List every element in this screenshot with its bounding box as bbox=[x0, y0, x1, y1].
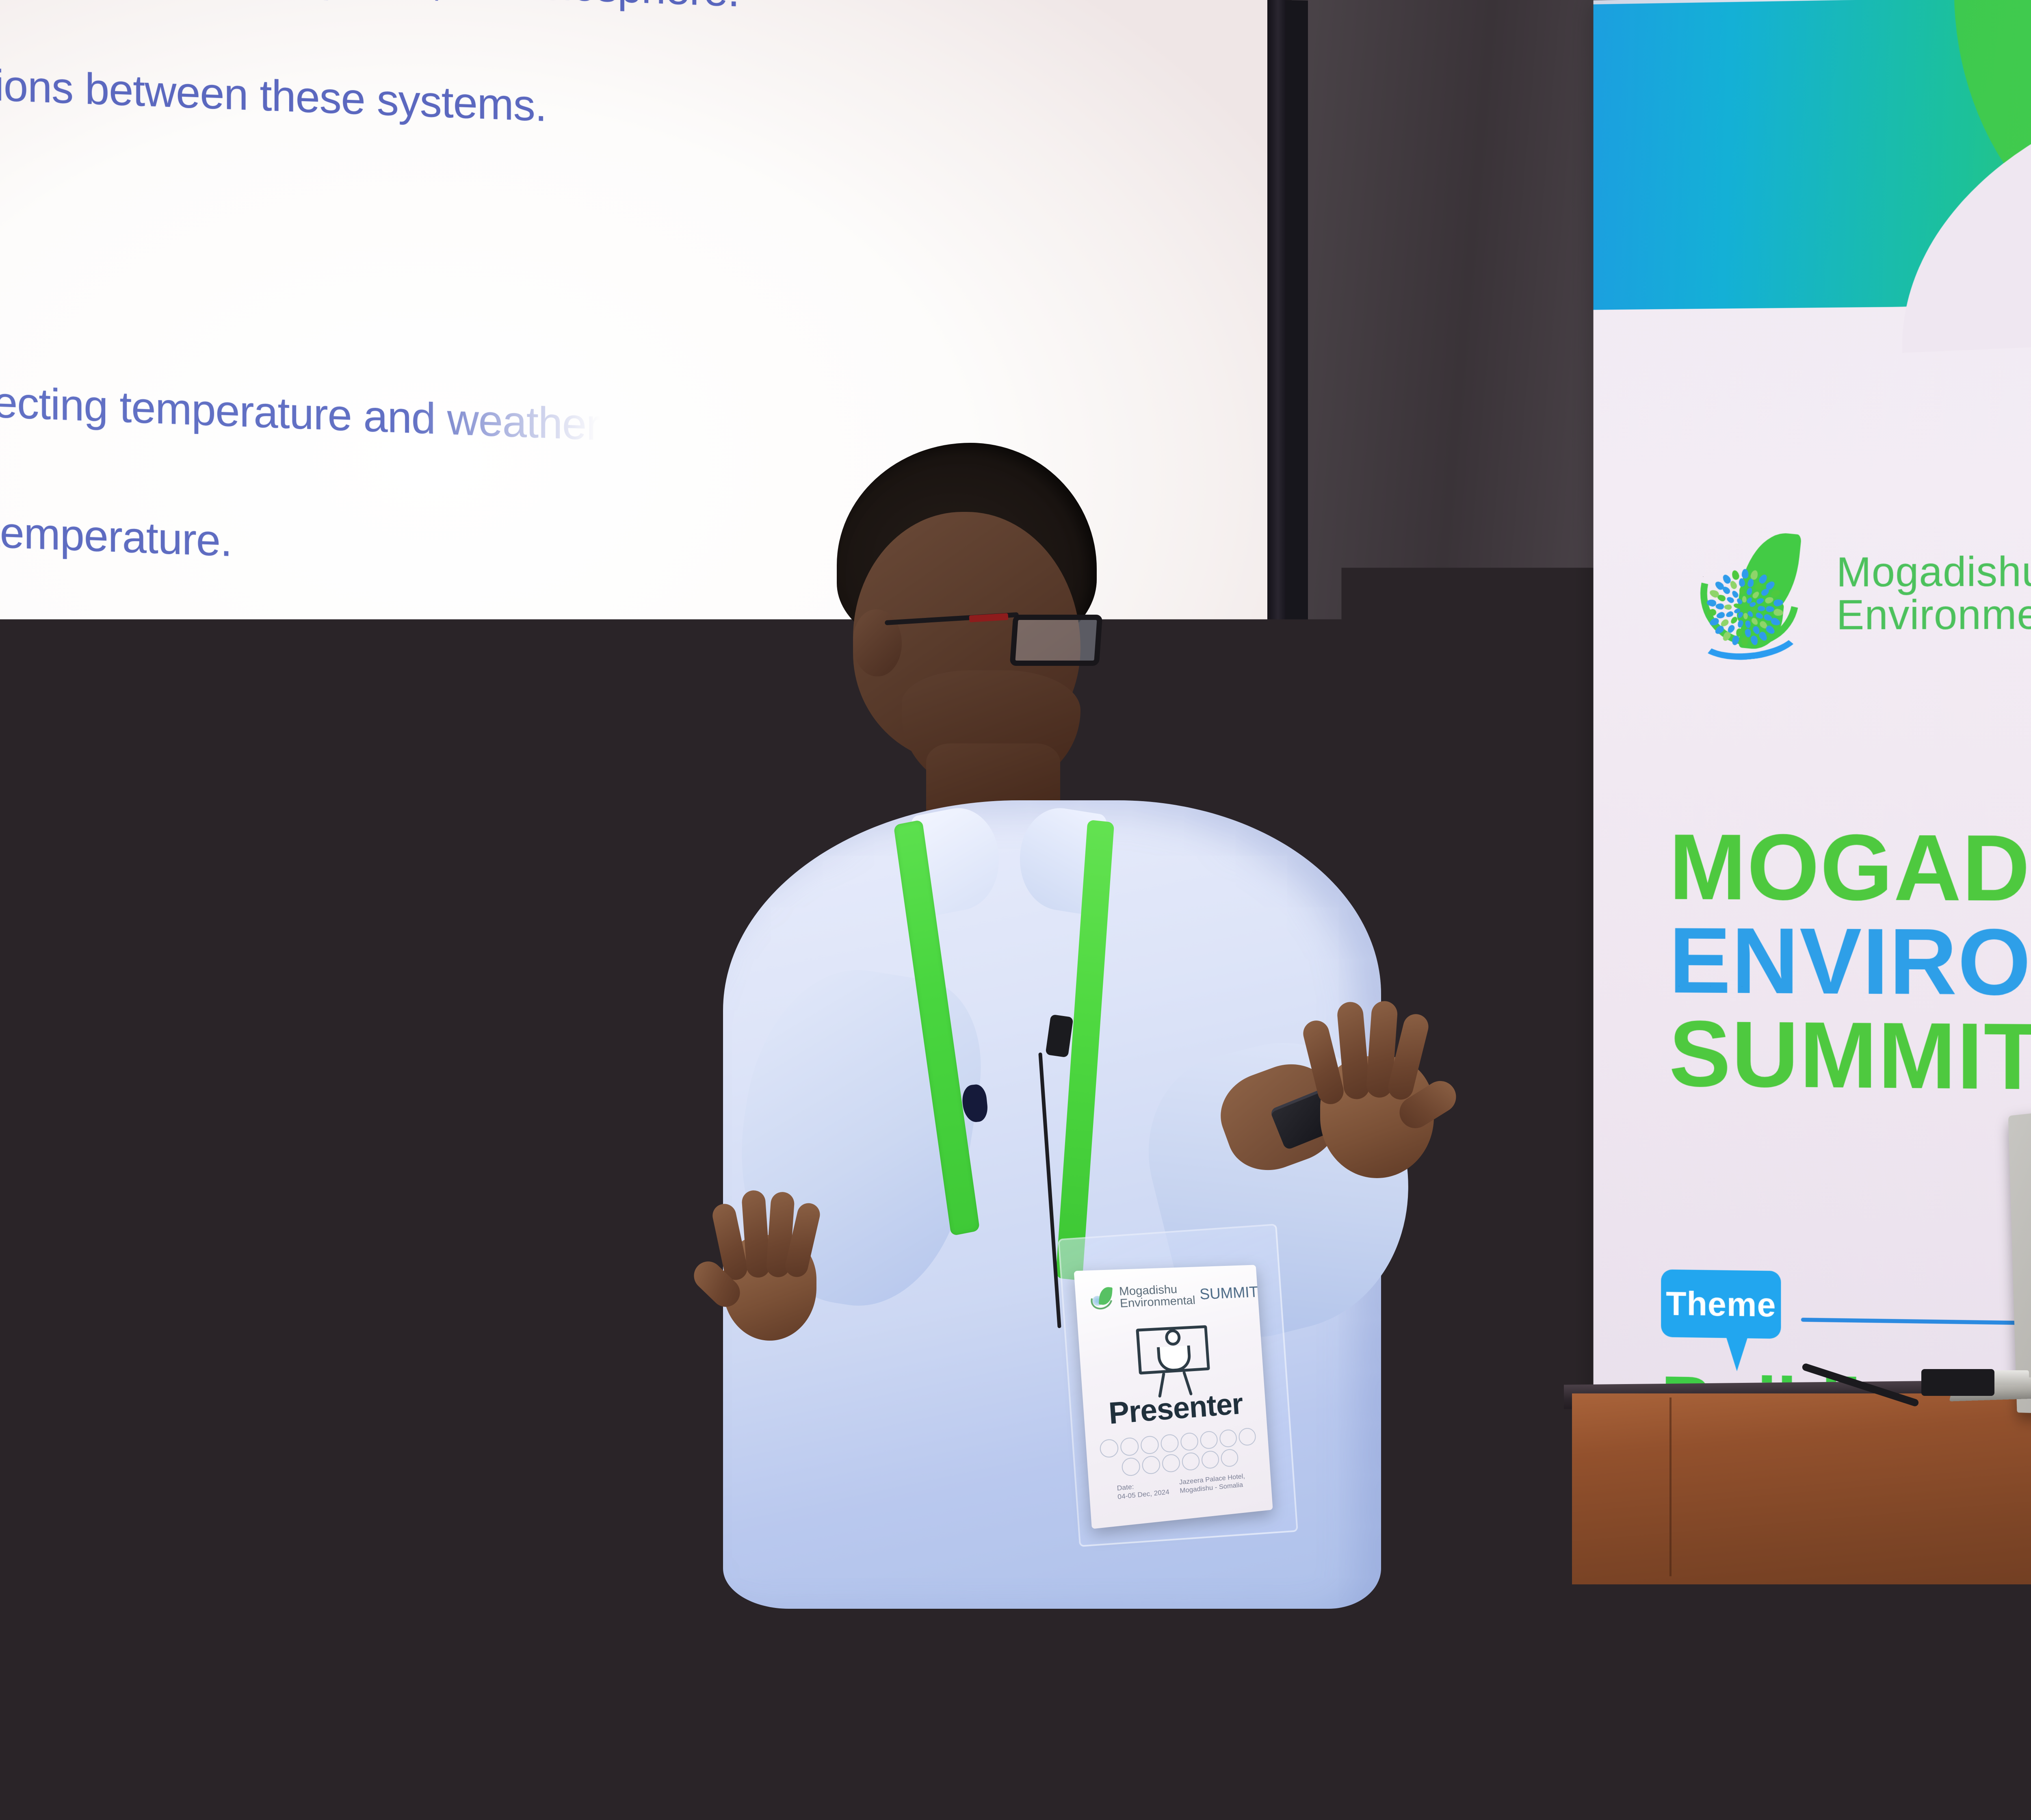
moecc-seal-icon: ★ MOECC bbox=[1104, 1662, 1178, 1735]
presenter-left-hand bbox=[707, 1174, 853, 1349]
badge-partner-logo-strip bbox=[1098, 1427, 1258, 1478]
slide-line-2: ractions between these systems. bbox=[0, 57, 547, 131]
slide-line-4: h's temperature. bbox=[0, 504, 232, 566]
banner-title-line-1: MOGADISHU bbox=[1669, 821, 2031, 918]
presenter-eyeglasses bbox=[890, 607, 1101, 668]
oxfam-label: OXFAM bbox=[1429, 1723, 1490, 1742]
oxfam-mark-icon bbox=[1433, 1654, 1485, 1718]
presenter-easel-icon bbox=[1132, 1322, 1214, 1391]
aacj-caption: African Activists for Climate Justice bbox=[1657, 1725, 1739, 1731]
aacj-fist-icon: African Activists for Climate Justice bbox=[1664, 1662, 1733, 1735]
footer-theme-label: Theme bbox=[618, 1582, 686, 1606]
footer-theme-block: Theme Building Sustainable Future: Clima… bbox=[608, 1655, 1087, 1741]
pacja-abbr: PACJA bbox=[1738, 1681, 1818, 1708]
a4e-letter-a: A bbox=[34, 1668, 78, 1729]
slide-line-1: re, cryosphere, lithosphere, and biosphe… bbox=[0, 0, 739, 17]
simad-crest-icon-footer: SIMAD UNIVERSITY bbox=[1264, 1656, 1336, 1740]
partner-logo-hex bbox=[1970, 1617, 2031, 1779]
partner-a4e-letter-4: 4 bbox=[1208, 1672, 1236, 1724]
laptop-usb-port bbox=[1992, 1370, 2029, 1385]
banner-title-line-3: SUMMIT bbox=[1669, 1007, 2031, 1104]
presenter-right-hand bbox=[1292, 987, 1466, 1190]
banner-title-line-2: ENVIRONMENTAL bbox=[1669, 914, 2031, 1013]
footer-theme-line-1: Building Sustainable Future: bbox=[608, 1655, 1087, 1696]
footer-partner-logos: ★ MOECC A 4 E bbox=[1108, 1617, 2031, 1779]
footer-summit-lockup: Mogadishu SUMMIT Environmental bbox=[157, 1655, 579, 1742]
slide-line-3: , affecting temperature and weather bbox=[0, 374, 600, 450]
a4e-letter-4: 4 bbox=[72, 1668, 106, 1729]
badge-logo-line-2: Environmental bbox=[1119, 1295, 1196, 1310]
partner-footer-banner: A 4 E Mogadishu SUMMIT bbox=[0, 1576, 2031, 1820]
footer-leaf-logo-icon bbox=[157, 1655, 250, 1742]
footer-summit-word-1: Mogadishu bbox=[261, 1673, 407, 1702]
footer-theme-line-2: Climate Justice for Somalia bbox=[608, 1701, 1087, 1741]
banner-brand-text: Mogadishu SUMMIT Environmental bbox=[1836, 535, 2031, 636]
badge-leaf-logo-icon bbox=[1088, 1286, 1117, 1311]
slide-line-7: ffected by the climate. bbox=[0, 892, 340, 958]
pacja-sub-2: JUSTICE ALLIANCE bbox=[1745, 1718, 1811, 1726]
slide-line-6: ost impact sea levels and climate bbox=[0, 764, 553, 838]
footer-summit-word-3: SUMMIT bbox=[414, 1663, 579, 1704]
swirl-logo-icon bbox=[1347, 1662, 1412, 1735]
partner-logo-a4e: A 4 E bbox=[1174, 1617, 1267, 1779]
conference-room-scene: re, cryosphere, lithosphere, and biosphe… bbox=[0, 0, 2031, 1820]
moecc-abbr: MOECC bbox=[1106, 1726, 1176, 1732]
presenter-person: Mogadishu Environmental SUMMIT Presenter bbox=[642, 443, 1718, 1580]
salaam-bank-icon: SALAAM bbox=[1829, 1661, 1886, 1735]
badge-summit-logo: Mogadishu Environmental SUMMIT bbox=[1088, 1281, 1247, 1311]
a4e-letter-e: E bbox=[100, 1668, 141, 1729]
badge-logo-summit: SUMMIT bbox=[1199, 1284, 1259, 1303]
quantus-q: Q bbox=[1566, 1686, 1582, 1710]
signjet-tagline: experience matters bbox=[1513, 1712, 1565, 1718]
banner-brand-word-2: Environmental bbox=[1836, 594, 2031, 636]
badge-role-label: Presenter bbox=[1096, 1386, 1255, 1432]
h-circle-icon: H bbox=[1903, 1662, 1972, 1734]
banner-theme-rule bbox=[1801, 1318, 2031, 1326]
footer-a4e-logo: A 4 E bbox=[37, 1617, 138, 1779]
signjet-part-1: Sign bbox=[1505, 1678, 1549, 1702]
footer-theme-rule bbox=[709, 1599, 937, 1605]
pacja-sub-1: PANAFRICAN CLIMATE bbox=[1739, 1709, 1817, 1718]
banner-title-block: MOGADISHU ENVIRONMENTAL SUMMIT 2024 bbox=[1669, 821, 2031, 1108]
banner-brand-lockup: Mogadishu SUMMIT Environmental bbox=[1693, 527, 2031, 643]
slide-line-5: ence temperature distribution. bbox=[0, 636, 491, 708]
banner-brand-word-1: Mogadishu bbox=[1836, 551, 2031, 593]
simad-abbr: SIMAD bbox=[1280, 1675, 1320, 1689]
footer-summit-word-2: Environmental bbox=[261, 1704, 453, 1733]
hexagon-logo-icon bbox=[1981, 1660, 2031, 1737]
footer-theme-badge: Theme bbox=[612, 1576, 693, 1618]
laptop-hdmi-connector bbox=[1921, 1369, 1994, 1396]
presenter-name-badge: Mogadishu Environmental SUMMIT Presenter bbox=[1074, 1265, 1273, 1529]
